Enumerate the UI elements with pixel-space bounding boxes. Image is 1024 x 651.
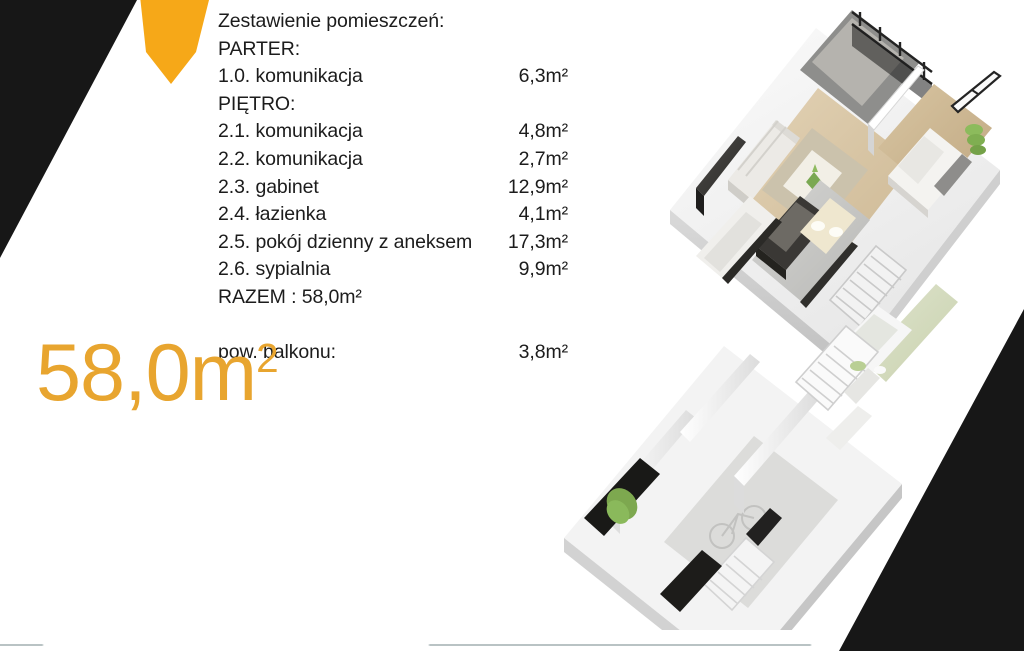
room-label: 2.1. komunikacja [218, 118, 363, 146]
headline-number: 58,0m [36, 328, 256, 418]
floorplan-render [500, 10, 1024, 630]
orange-ribbon-marker [118, 0, 218, 88]
room-label: 2.3. gabinet [218, 174, 319, 202]
room-label: 2.6. sypialnia [218, 256, 330, 284]
ground-floor-group [564, 284, 958, 630]
room-label: 1.0. komunikacja [218, 63, 363, 91]
headline-superscript: 2 [256, 335, 279, 381]
room-label: 2.4. łazienka [218, 201, 326, 229]
room-label: 2.5. pokój dzienny z aneksem [218, 229, 472, 257]
poster-canvas: Zestawienie pomieszczeń: PARTER: 1.0. ko… [0, 0, 1024, 651]
bottom-divider-rule [0, 644, 1024, 646]
upper-floor-group [670, 10, 1000, 376]
page-title: 58,0m2 [36, 318, 279, 414]
room-label: 2.2. komunikacja [218, 146, 363, 174]
bedroom-window [952, 72, 1000, 112]
